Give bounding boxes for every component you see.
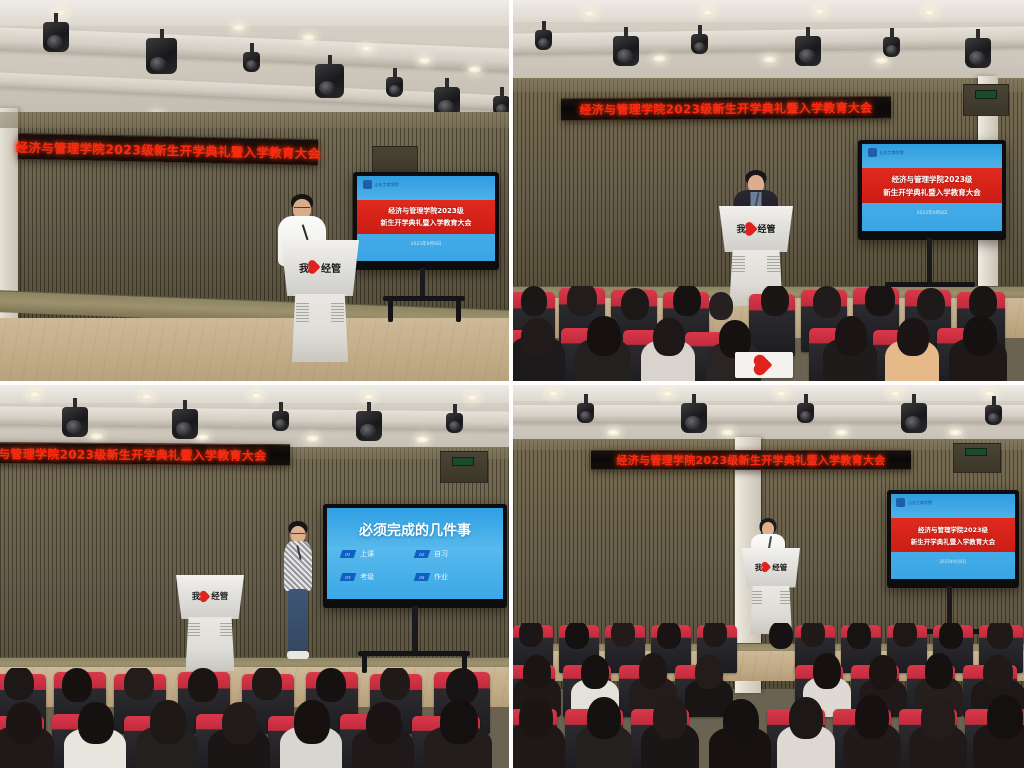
tv-stand-foot <box>383 296 465 301</box>
audience-head <box>587 316 621 356</box>
audience-head <box>925 653 953 689</box>
audience-head <box>987 695 1023 739</box>
downlight <box>232 24 245 31</box>
display-screen: 山东工商学院 经济与管理学院2023级 新生开学典礼暨入学教育大会 2023年9… <box>353 172 499 270</box>
downlight <box>547 390 560 397</box>
exit-sign-icon <box>965 448 987 456</box>
tv-stand-foot <box>388 300 393 322</box>
podium: 我 经管 <box>742 548 800 634</box>
audience-head <box>813 286 841 318</box>
list-badge: 02 <box>414 550 431 558</box>
podium-vent-right <box>767 256 780 272</box>
downlight <box>583 10 596 17</box>
stage-light <box>577 403 594 423</box>
heart-placard <box>735 352 793 378</box>
led-banner-text: 经济与管理学院2023级新生开学典礼暨入学教育大会 <box>0 444 267 463</box>
audience-head <box>521 318 555 356</box>
downlight <box>418 57 431 64</box>
presenter-glasses-icon <box>291 533 305 536</box>
ceiling-soffit <box>0 0 509 26</box>
slide-line-2: 新生开学典礼暨入学教育大会 <box>381 218 472 228</box>
heart-icon <box>201 591 211 601</box>
slide-logo-row: 山东工商学院 <box>363 180 399 189</box>
slide-logo-row: 山东工商学院 <box>868 148 904 157</box>
university-logo-icon <box>868 148 877 157</box>
list-label: 上课 <box>360 549 374 559</box>
downlight <box>653 55 666 62</box>
audience-head <box>150 700 186 744</box>
presenter-standing <box>276 521 320 666</box>
audience-head <box>519 623 543 647</box>
audience-head <box>653 695 687 739</box>
tv-bezel: 山东工商学院 经济与管理学院2023级 新生开学典礼暨入学教育大会 2023年9… <box>887 490 1019 588</box>
tv-bezel: 山东工商学院 经济与管理学院2023级 新生开学典礼暨入学教育大会 2023年9… <box>353 172 499 270</box>
audience-head <box>893 623 917 647</box>
downlight <box>360 45 373 52</box>
audience-head <box>519 697 553 739</box>
slide-line-2: 新生开学典礼暨入学教育大会 <box>883 187 981 198</box>
audience-head <box>801 623 825 647</box>
exit-sign-icon <box>975 90 997 99</box>
slide-title-screen: 山东工商学院 经济与管理学院2023级 新生开学典礼暨入学教育大会 2023年9… <box>891 494 1015 579</box>
audience-head <box>252 668 282 700</box>
podium-sign: 我 经管 <box>729 222 782 235</box>
audience-head <box>567 286 597 316</box>
podium-sign: 我 经管 <box>186 590 235 602</box>
audience-area <box>513 286 1024 381</box>
audience-head <box>124 668 154 700</box>
stage-light <box>965 38 991 68</box>
slide-list-screen: 必须完成的几件事 01 上课 02 自习 03 考级 <box>327 508 503 599</box>
tv-bezel: 山东工商学院 经济与管理学院2023级 新生开学典礼暨入学教育大会 2023年9… <box>858 140 1006 240</box>
wall-door <box>440 451 488 483</box>
ceiling-soffit <box>513 385 1024 401</box>
list-badge: 04 <box>414 573 431 581</box>
photo-collage: 经济与管理学院2023级新生开学典礼暨入学教育大会 山东工商学院 经济与管理学院… <box>0 0 1024 768</box>
stage-light <box>62 407 88 437</box>
audience-head <box>446 668 478 704</box>
downlight <box>923 9 936 16</box>
stage-light <box>43 22 69 52</box>
audience-area <box>513 623 1024 768</box>
heart-icon <box>746 223 757 234</box>
podium-vent-right <box>331 303 344 323</box>
downlight <box>140 393 153 400</box>
audience-head <box>222 702 258 744</box>
downlight <box>661 390 674 397</box>
audience-head <box>789 697 823 739</box>
stage-light <box>172 409 198 439</box>
slide-line-1: 经济与管理学院2023级 <box>388 206 463 216</box>
audience-head <box>294 700 330 744</box>
wall-door <box>963 84 1009 116</box>
downlight <box>813 8 826 15</box>
audience-head <box>621 288 649 320</box>
list-item: 04 作业 <box>415 572 489 582</box>
list-item: 03 考级 <box>341 572 415 582</box>
heart-icon <box>763 563 771 571</box>
wall-upper-band <box>0 112 509 128</box>
exit-sign-icon <box>452 457 474 466</box>
podium: 我 经管 <box>281 240 359 362</box>
presenter-legs <box>288 589 308 655</box>
audience-head <box>380 668 410 700</box>
audience-head <box>366 702 402 744</box>
panel-top-left: 经济与管理学院2023级新生开学典礼暨入学教育大会 山东工商学院 经济与管理学院… <box>0 0 509 381</box>
audience-head <box>62 668 92 702</box>
presenter-shoes <box>287 651 309 659</box>
downlight <box>28 391 41 398</box>
audience-head <box>521 286 547 316</box>
list-badge: 01 <box>340 550 357 558</box>
downlight <box>250 392 263 399</box>
downlight <box>701 9 714 16</box>
stage-light <box>146 38 177 74</box>
podium-sign-suffix: 经管 <box>758 222 776 235</box>
slide-title-screen: 山东工商学院 经济与管理学院2023级 新生开学典礼暨入学教育大会 2023年9… <box>862 144 1002 231</box>
downlight <box>889 390 902 397</box>
tv-stand-post <box>412 606 418 654</box>
audience-head <box>835 316 867 356</box>
downlight <box>775 390 788 397</box>
led-banner-text: 经济与管理学院2023级新生开学典礼暨入学教育大会 <box>579 99 872 118</box>
downlight <box>721 429 734 436</box>
slide-red-band: 经济与管理学院2023级 新生开学典礼暨入学教育大会 <box>862 168 1002 203</box>
downlight <box>90 433 103 440</box>
audience-head <box>78 702 114 744</box>
audience-head <box>4 668 34 700</box>
slide-date: 2023年9月8日 <box>862 210 1002 216</box>
podium-sign-suffix: 经管 <box>321 260 341 275</box>
downlight <box>875 57 888 64</box>
downlight <box>466 394 479 401</box>
slide-university-name: 山东工商学院 <box>375 182 399 188</box>
podium-vent-left <box>752 591 762 605</box>
stage-light <box>535 30 552 50</box>
list-label: 作业 <box>434 572 448 582</box>
downlight <box>416 436 429 443</box>
panel-bottom-left: 经济与管理学院2023级新生开学典礼暨入学教育大会 必须完成的几件事 01 上课… <box>0 385 509 768</box>
tv-bezel: 必须完成的几件事 01 上课 02 自习 03 考级 <box>323 504 507 608</box>
slide-university-name: 山东工商学院 <box>908 500 932 506</box>
podium-sign: 我 经管 <box>292 260 348 275</box>
led-banner: 经济与管理学院2023级新生开学典礼暨入学教育大会 <box>561 96 891 121</box>
display-screen: 必须完成的几件事 01 上课 02 自习 03 考级 <box>323 504 507 608</box>
slide-list-grid: 01 上课 02 自习 03 考级 04 作业 <box>341 543 489 589</box>
slide-red-band: 经济与管理学院2023级 新生开学典礼暨入学教育大会 <box>891 518 1015 552</box>
audience-head <box>6 702 42 744</box>
stage-light <box>883 37 900 57</box>
audience-head <box>188 668 218 702</box>
stage-light <box>691 34 708 54</box>
stage-light <box>386 77 403 97</box>
audience-head <box>855 695 889 739</box>
audience-head <box>983 655 1013 689</box>
tv-stand-foot <box>456 300 461 322</box>
display-screen: 山东工商学院 经济与管理学院2023级 新生开学典礼暨入学教育大会 2023年9… <box>887 490 1019 588</box>
slide-date: 2023年9月8日 <box>891 559 1015 565</box>
audience-head <box>653 318 685 356</box>
audience-head <box>939 623 963 649</box>
list-label: 自习 <box>434 549 448 559</box>
audience-head <box>695 655 723 689</box>
audience-head <box>703 623 727 647</box>
stage-light <box>243 52 260 72</box>
list-label: 考级 <box>360 572 374 582</box>
led-banner-text: 经济与管理学院2023级新生开学典礼暨入学教育大会 <box>616 452 885 468</box>
audience-head <box>316 668 346 702</box>
slide-university-name: 山东工商学院 <box>880 150 904 156</box>
list-item: 01 上课 <box>341 549 415 559</box>
downlight <box>835 429 848 436</box>
podium-sign-suffix: 经管 <box>211 590 228 602</box>
podium-sign-suffix: 经管 <box>772 562 787 573</box>
stage-light <box>985 405 1002 425</box>
podium-vent-right <box>220 623 232 638</box>
audience-head <box>917 288 945 320</box>
audience-head <box>847 623 871 649</box>
podium-vent-right <box>780 591 790 605</box>
audience-head <box>587 697 621 739</box>
stage-floor <box>0 318 509 381</box>
audience-head <box>761 286 789 316</box>
podium-vent-left <box>188 623 200 638</box>
slide-list-title: 必须完成的几件事 <box>327 520 503 540</box>
stage-light <box>446 413 463 433</box>
audience-head <box>565 623 589 649</box>
audience-head <box>969 286 997 318</box>
stage-light <box>272 411 289 431</box>
audience-head <box>897 318 929 356</box>
list-item: 02 自习 <box>415 549 489 559</box>
downlight <box>362 393 375 400</box>
downlight <box>196 434 209 441</box>
audience-head <box>987 623 1013 649</box>
panel-top-right: 经济与管理学院2023级新生开学典礼暨入学教育大会 山东工商学院 经济与管理学院… <box>513 0 1024 381</box>
audience-area <box>0 668 509 768</box>
tv-stand-foot <box>358 651 470 656</box>
audience-head <box>639 653 667 689</box>
audience-head <box>921 697 955 739</box>
audience-head <box>657 623 681 649</box>
panel-bottom-right: 经济与管理学院2023级新生开学典礼暨入学教育大会 山东工商学院 经济与管理学院… <box>513 385 1024 768</box>
stage-light <box>901 403 927 433</box>
slide-red-band: 经济与管理学院2023级 新生开学典礼暨入学教育大会 <box>357 200 495 234</box>
downlight <box>949 429 962 436</box>
podium-vent-left <box>732 256 745 272</box>
university-logo-icon <box>896 498 905 507</box>
audience-head <box>709 292 733 320</box>
audience-head <box>769 623 793 649</box>
heart-icon <box>309 261 320 272</box>
podium-sign: 我 经管 <box>750 562 792 573</box>
stage-light <box>613 36 639 66</box>
stage-light <box>797 403 814 423</box>
downlight <box>302 34 315 41</box>
audience-head <box>813 653 841 689</box>
downlight <box>763 56 776 63</box>
audience-head <box>611 623 635 647</box>
stage-light <box>681 403 707 433</box>
slide-logo-row: 山东工商学院 <box>896 498 932 507</box>
podium-vent-left <box>296 303 309 323</box>
downlight <box>607 429 620 436</box>
wall-upper-band <box>513 78 1024 92</box>
stage-light <box>356 411 382 441</box>
downlight <box>306 435 319 442</box>
audience-head <box>440 700 478 744</box>
led-banner: 经济与管理学院2023级新生开学典礼暨入学教育大会 <box>0 442 290 466</box>
slide-line-2: 新生开学典礼暨入学教育大会 <box>911 536 996 546</box>
downlight <box>468 66 481 73</box>
stage-light <box>315 64 344 98</box>
audience-head <box>581 655 609 689</box>
stage-light <box>795 36 821 66</box>
audience-head <box>865 286 895 316</box>
slide-line-1: 经济与管理学院2023级 <box>918 524 988 534</box>
wall-upper-band <box>513 439 1024 450</box>
display-screen: 山东工商学院 经济与管理学院2023级 新生开学典礼暨入学教育大会 2023年9… <box>858 140 1006 240</box>
slide-title-screen: 山东工商学院 经济与管理学院2023级 新生开学典礼暨入学教育大会 2023年9… <box>357 176 495 261</box>
slide-date: 2023年9月8日 <box>357 241 495 247</box>
podium: 我 经管 <box>176 575 244 671</box>
audience-head <box>963 316 997 356</box>
audience-head <box>869 655 897 689</box>
audience-head <box>523 655 551 689</box>
heart-icon <box>756 357 773 374</box>
led-banner: 经济与管理学院2023级新生开学典礼暨入学教育大会 <box>591 450 911 470</box>
list-badge: 03 <box>340 573 357 581</box>
tv-stand-post <box>927 238 932 284</box>
audience-head <box>723 699 759 743</box>
audience-head <box>673 286 701 316</box>
speaker-glasses-icon <box>294 207 310 210</box>
university-logo-icon <box>363 180 372 189</box>
slide-line-1: 经济与管理学院2023级 <box>892 174 973 185</box>
led-banner-text: 经济与管理学院2023级新生开学典礼暨入学教育大会 <box>15 137 320 162</box>
